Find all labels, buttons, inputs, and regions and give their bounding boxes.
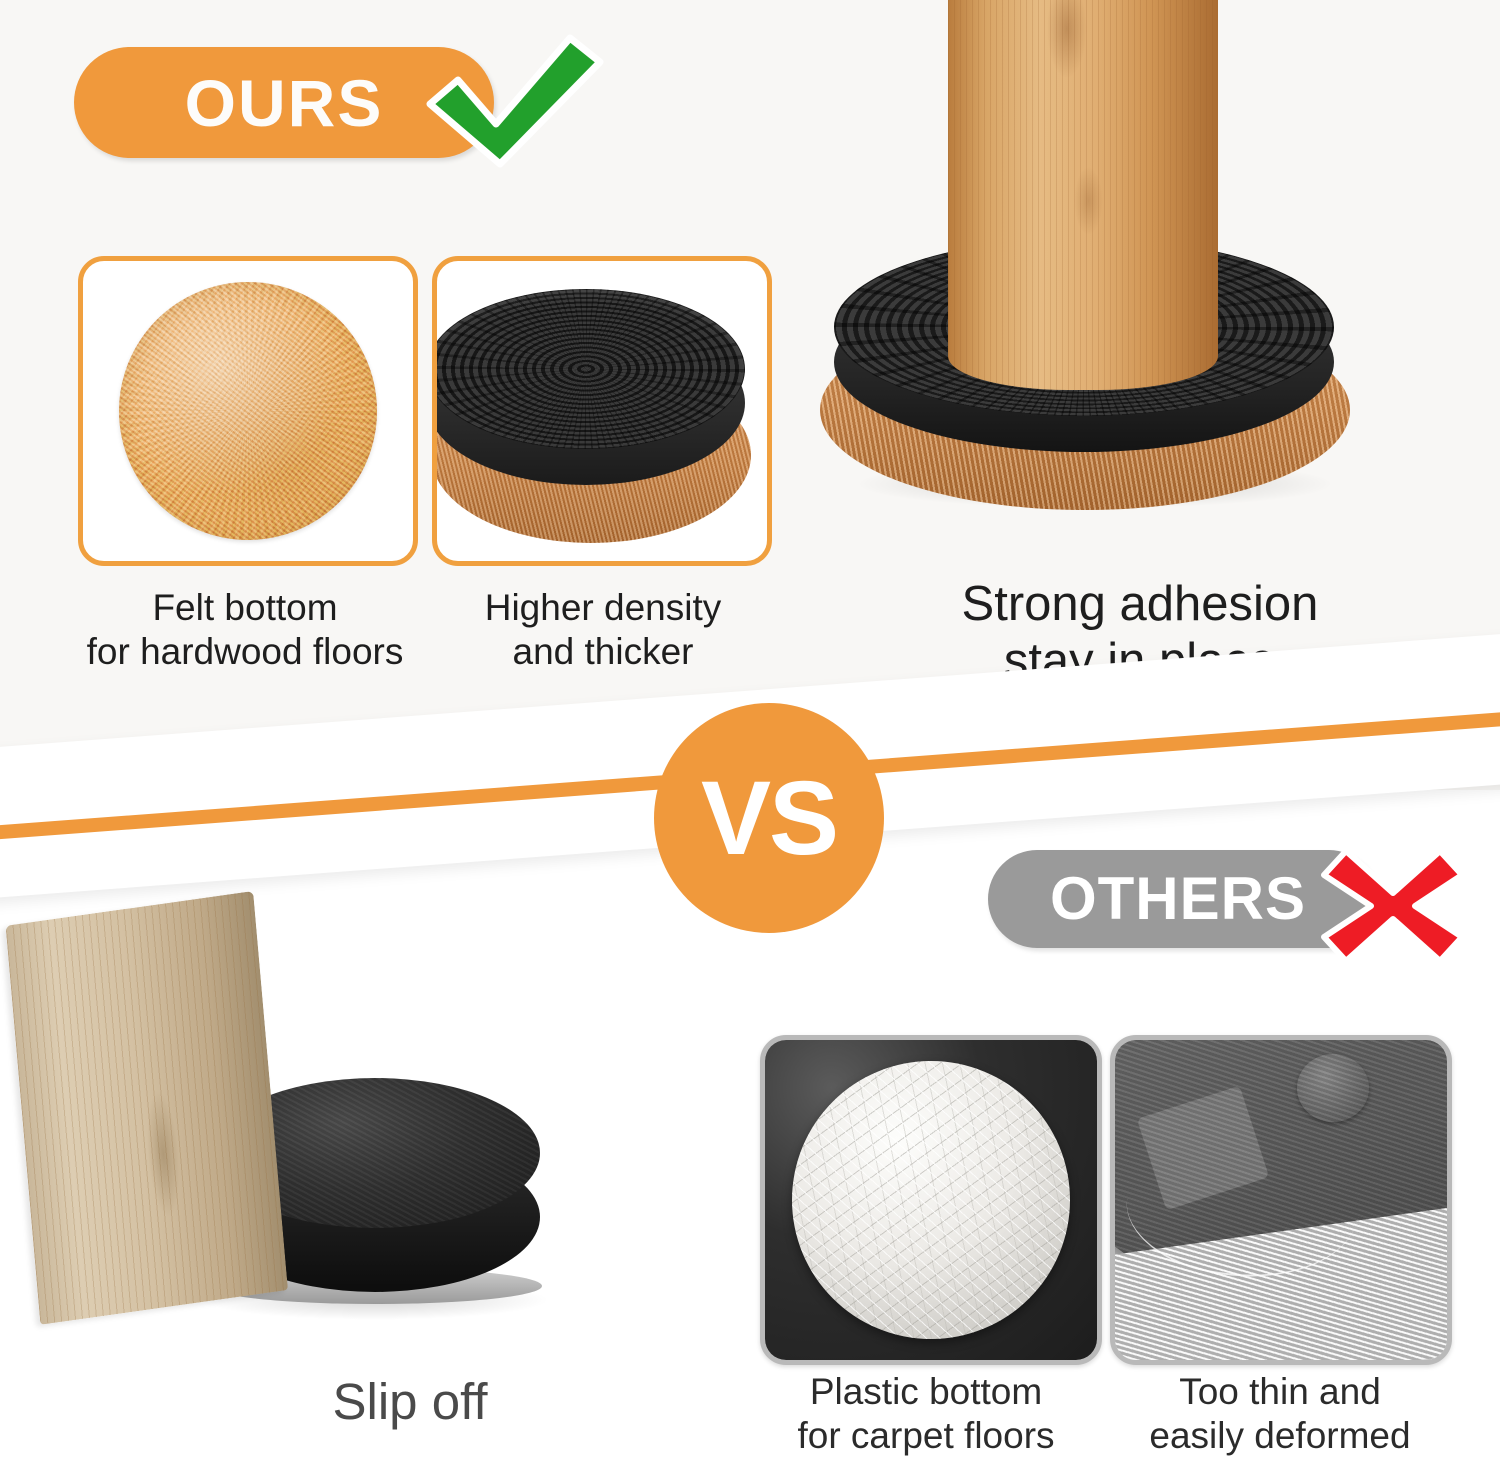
felt-texture [119,282,377,540]
strong-adhesion-image [820,0,1460,560]
slip-off-image [10,880,730,1380]
density-pad-image [432,275,772,555]
caption-slip-off: Slip off [150,1372,670,1432]
panel-too-thin [1110,1035,1452,1365]
vs-label: VS [701,766,837,871]
felt-pad-image [119,282,377,540]
slipping-furniture-leg [6,891,288,1325]
caption-plastic-bottom: Plastic bottom for carpet floors [746,1370,1106,1457]
caption-line-1: Higher density [438,586,768,630]
panel-plastic-bottom [760,1035,1102,1365]
caption-line-1: Felt bottom [30,586,460,630]
caption-higher-density: Higher density and thicker [438,586,768,673]
cross-mark-icon [1318,845,1468,967]
caption-too-thin: Too thin and easily deformed [1100,1370,1460,1457]
others-badge-label: OTHERS [1050,869,1316,929]
panel-felt-bottom [78,256,418,566]
plastic-disc-image [765,1040,1097,1360]
comparison-infographic: OURS Felt bott [0,0,1500,1467]
pad-bump [1297,1054,1369,1122]
caption-line-1: Strong adhesion [860,576,1420,633]
caption-line-2: easily deformed [1100,1414,1460,1458]
ours-badge-label: OURS [185,70,384,136]
check-mark-icon [420,32,610,172]
caption-line-1: Too thin and [1100,1370,1460,1414]
caption-line-1: Plastic bottom [746,1370,1106,1414]
vs-badge: VS [654,703,884,933]
rubber-grooved-top [432,289,745,449]
caption-line-2: for hardwood floors [30,630,460,674]
thin-pad-image [1115,1040,1447,1360]
panel-higher-density [432,256,772,566]
wooden-furniture-leg [948,0,1218,390]
caption-felt-bottom: Felt bottom for hardwood floors [30,586,460,673]
caption-line-1: Slip off [150,1372,670,1432]
scratched-plastic-disc [792,1061,1070,1339]
caption-line-2: and thicker [438,630,768,674]
caption-line-2: for carpet floors [746,1414,1106,1458]
